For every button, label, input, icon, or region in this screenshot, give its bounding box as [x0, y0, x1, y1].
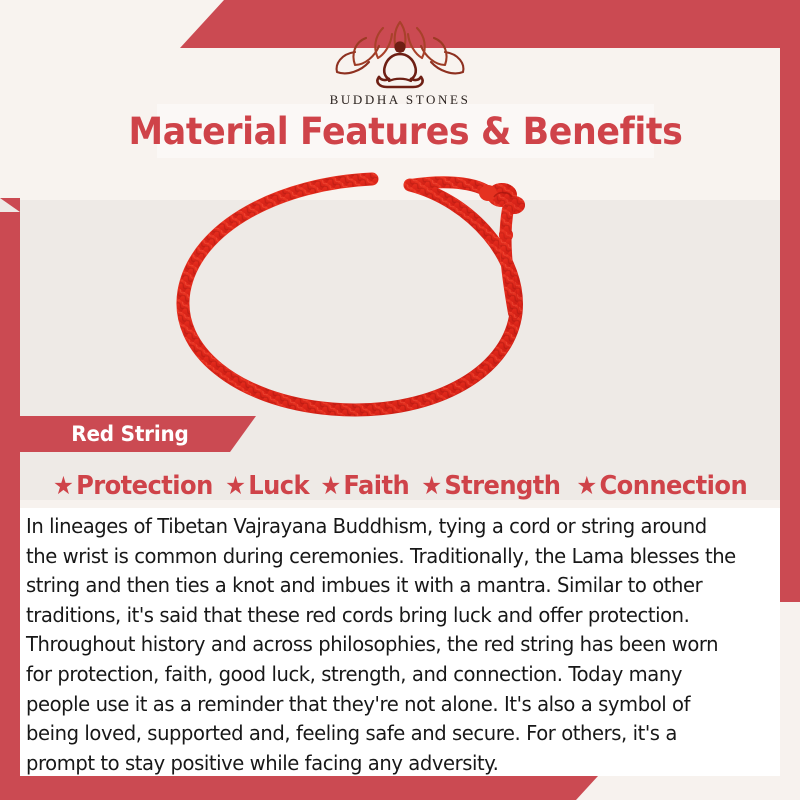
benefit-item-strength: ★ Strength: [421, 471, 560, 501]
benefit-item-faith: ★ Faith: [320, 471, 409, 501]
benefit-label: Protection: [76, 471, 213, 501]
material-features-poster: BUDDHA STONES Material Features & Benefi…: [0, 0, 800, 800]
star-icon: ★: [53, 473, 73, 498]
product-image-red-string-bracelet: [110, 163, 690, 425]
benefit-label: Luck: [249, 471, 310, 501]
benefit-label: Connection: [599, 471, 747, 501]
star-icon: ★: [320, 473, 340, 498]
decorative-left-red-bar: [0, 198, 20, 800]
star-icon: ★: [576, 473, 596, 498]
lotus-meditation-icon: [325, 18, 475, 90]
benefit-label: Faith: [343, 471, 409, 501]
benefits-row: ★ Protection ★ Luck ★ Faith ★ Strength ★…: [20, 464, 780, 508]
star-icon: ★: [226, 473, 246, 498]
benefit-item-connection: ★ Connection: [576, 471, 747, 501]
star-icon: ★: [421, 473, 441, 498]
benefit-item-luck: ★ Luck: [226, 471, 310, 501]
body-paragraph: In lineages of Tibetan Vajrayana Buddhis…: [26, 512, 740, 778]
benefit-label: Strength: [444, 471, 560, 501]
brand-logo: BUDDHA STONES: [0, 18, 800, 108]
benefit-item-protection: ★ Protection: [53, 471, 213, 501]
section-title: Red String: [20, 416, 244, 452]
page-title: Material Features & Benefits: [172, 104, 639, 158]
